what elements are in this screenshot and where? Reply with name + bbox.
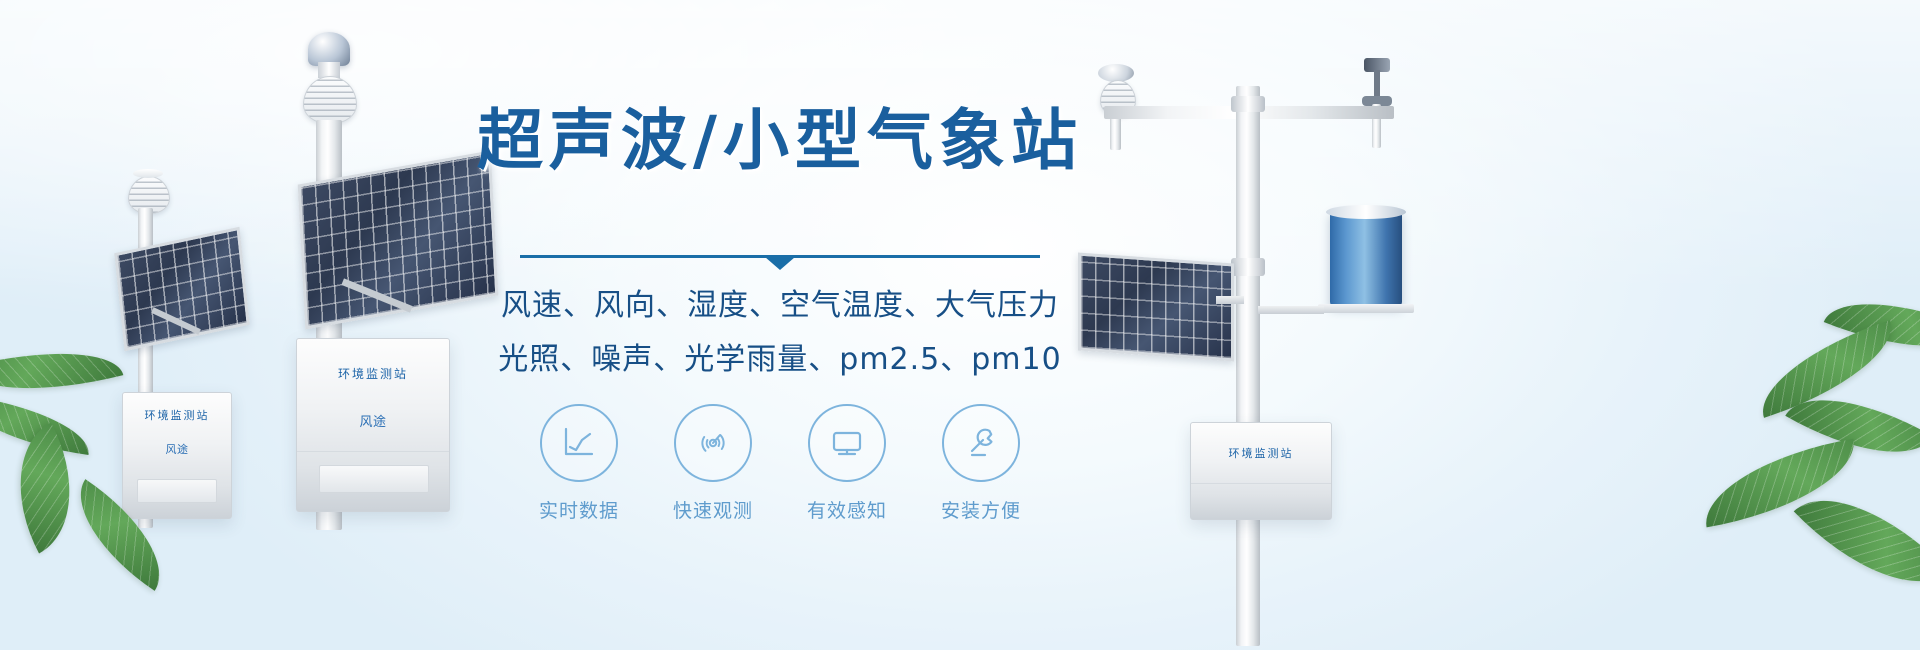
divider-triangle-icon xyxy=(765,257,795,270)
subtitle-line-1: 风速、风向、湿度、空气温度、大气压力 xyxy=(440,280,1120,324)
feature-label: 有效感知 xyxy=(788,496,906,523)
feature-label: 安装方便 xyxy=(922,496,1040,523)
radar-signal-icon xyxy=(674,404,752,482)
wrench-icon xyxy=(942,404,1020,482)
monitor-display-icon xyxy=(808,404,886,482)
feature-item-fast-observation[interactable]: 快速观测 xyxy=(654,404,772,523)
feature-list: 实时数据 快速观测 xyxy=(520,404,1040,523)
feature-label: 实时数据 xyxy=(520,496,638,523)
feature-item-effective-sensing[interactable]: 有效感知 xyxy=(788,404,906,523)
feature-item-easy-installation[interactable]: 安装方便 xyxy=(922,404,1040,523)
title-divider xyxy=(520,250,1040,266)
feature-label: 快速观测 xyxy=(654,496,772,523)
line-chart-icon xyxy=(540,404,618,482)
page-title: 超声波/小型气象站 xyxy=(440,108,1120,174)
subtitle-line-2: 光照、噪声、光学雨量、pm2.5、pm10 xyxy=(440,334,1120,378)
feature-item-realtime-data[interactable]: 实时数据 xyxy=(520,404,638,523)
banner-content: 超声波/小型气象站 风速、风向、湿度、空气温度、大气压力 光照、噪声、光学雨量、… xyxy=(0,0,1920,650)
product-banner: 环境监测站 风途 环境监测站 风途 xyxy=(0,0,1920,650)
